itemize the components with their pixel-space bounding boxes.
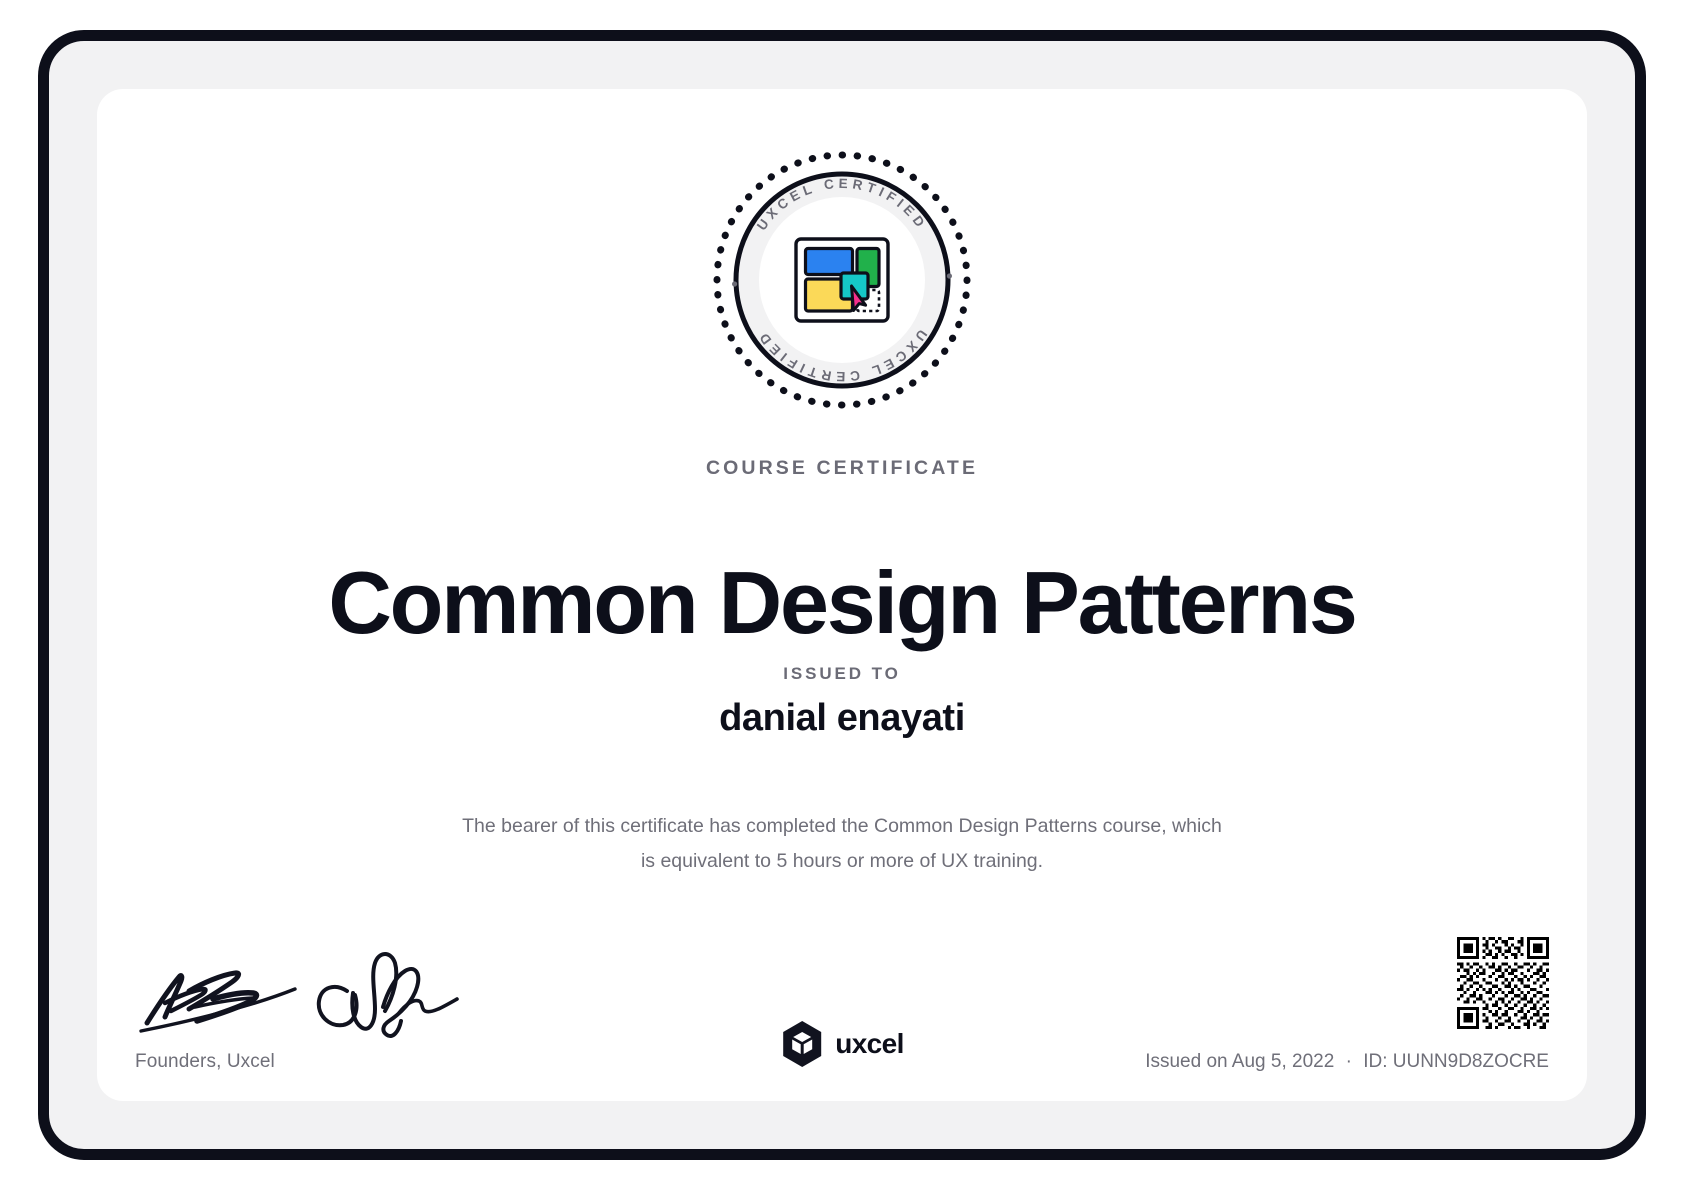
signatures: [135, 949, 555, 1041]
recipient-name: danial enayati: [97, 697, 1587, 740]
seal-ring-dot-left: [732, 281, 737, 286]
certificate-meta: Issued on Aug 5, 2022 · ID: UUNN9D8ZOCRE: [909, 937, 1549, 1073]
issued-on-text: Issued on Aug 5, 2022: [1145, 1051, 1334, 1072]
course-title: Common Design Patterns: [97, 552, 1587, 654]
certificate-id-text: ID: UUNN9D8ZOCRE: [1363, 1051, 1549, 1072]
signature-block: Founders, Uxcel: [135, 949, 555, 1073]
icon-block-blue: [806, 249, 853, 275]
eyebrow-label: COURSE CERTIFICATE: [97, 457, 1587, 480]
uxcel-certified-seal: UXCEL CERTIFIED UXCEL CERTIFIED: [711, 149, 973, 411]
design-patterns-icon: [796, 239, 888, 321]
certificate-frame: UXCEL CERTIFIED UXCEL CERTIFIED: [38, 30, 1646, 1160]
certificate-description: The bearer of this certificate has compl…: [462, 809, 1222, 880]
uxcel-cube-logo: [780, 1020, 824, 1068]
verification-qr-code[interactable]: [1457, 937, 1549, 1029]
seal-ring-dot-right: [947, 273, 952, 278]
certificate-card: UXCEL CERTIFIED UXCEL CERTIFIED: [97, 89, 1587, 1101]
uxcel-wordmark: uxcel: [835, 1028, 904, 1060]
uxcel-brand: uxcel: [780, 1020, 904, 1068]
issued-to-label: ISSUED TO: [97, 664, 1587, 684]
meta-separator: ·: [1340, 1051, 1358, 1072]
founder-signature-1: [135, 955, 305, 1041]
seal-svg: UXCEL CERTIFIED UXCEL CERTIFIED: [711, 149, 973, 411]
signature-role: Founders, Uxcel: [135, 1051, 555, 1073]
certificate-footer: Founders, Uxcel uxcel: [135, 893, 1549, 1073]
issue-meta: Issued on Aug 5, 2022 · ID: UUNN9D8ZOCRE: [909, 1051, 1549, 1073]
founder-signature-2: [313, 949, 463, 1041]
